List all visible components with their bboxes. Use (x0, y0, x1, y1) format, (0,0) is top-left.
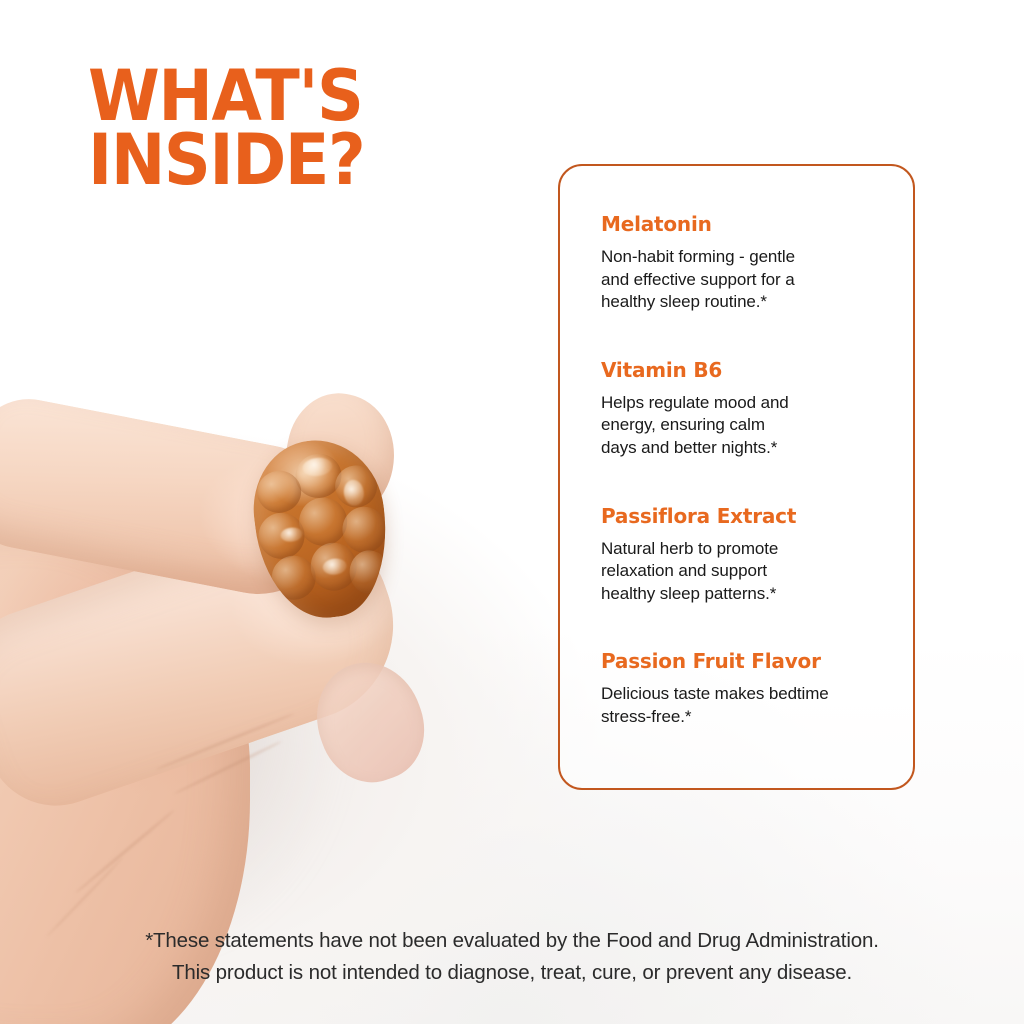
ingredient-description: Delicious taste makes bedtime stress-fre… (601, 683, 883, 728)
index-finger (0, 389, 348, 607)
ingredient-name: Vitamin B6 (601, 358, 883, 382)
ingredient-name: Passion Fruit Flavor (601, 649, 883, 673)
gummy-candy (246, 433, 397, 626)
ingredient-name: Melatonin (601, 212, 883, 236)
ingredient-description: Natural herb to promote relaxation and s… (601, 538, 883, 606)
knuckle-crease (155, 712, 295, 771)
ingredient-item: Passion Fruit Flavor Delicious taste mak… (601, 649, 883, 728)
ingredient-item: Passiflora Extract Natural herb to promo… (601, 504, 883, 606)
knuckle-crease (173, 740, 282, 795)
ingredient-name: Passiflora Extract (601, 504, 883, 528)
product-photo (0, 330, 470, 1024)
index-finger-tip (275, 385, 405, 529)
ingredients-card: Melatonin Non-habit forming - gentle and… (558, 164, 915, 790)
hand-shadow (0, 370, 430, 1010)
knuckle-crease (74, 809, 176, 895)
thumb (0, 495, 419, 824)
fda-disclaimer: *These statements have not been evaluate… (0, 925, 1024, 989)
ingredient-item: Melatonin Non-habit forming - gentle and… (601, 212, 883, 314)
ingredient-item: Vitamin B6 Helps regulate mood and energ… (601, 358, 883, 460)
thumbnail-nail (301, 648, 438, 795)
page-title: WHAT'S INSIDE? (88, 64, 364, 193)
ingredient-description: Helps regulate mood and energy, ensuring… (601, 392, 883, 460)
infographic-canvas: WHAT'S INSIDE? Melatonin (0, 0, 1024, 1024)
ingredient-description: Non-habit forming - gentle and effective… (601, 246, 883, 314)
